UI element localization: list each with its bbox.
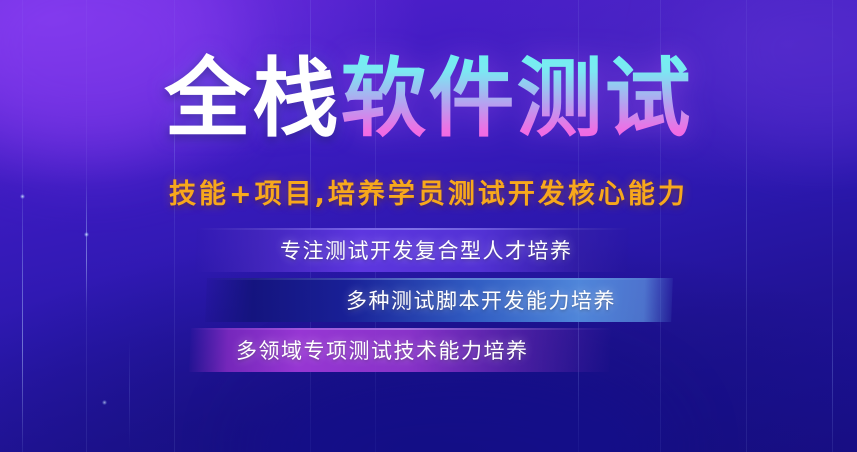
bar-highlight-edge (197, 228, 629, 230)
bar-highlight-edge (191, 328, 611, 330)
title-gradient-part: 软件测试 (341, 49, 693, 149)
bar-highlight-edge (207, 278, 673, 280)
feature-label-2: 多种测试脚本开发能力培养 (346, 285, 616, 315)
feature-label-3: 多领域专项测试技术能力培养 (236, 335, 529, 365)
title-white-part: 全栈 (165, 49, 341, 149)
feature-list: 专注测试开发复合型人才培养 多种测试脚本开发能力培养 多领域专项测试技术能力培养 (0, 228, 857, 388)
feature-bar-1: 专注测试开发复合型人才培养 (195, 228, 629, 272)
feature-label-1: 专注测试开发复合型人才培养 (280, 235, 573, 265)
banner-title: 全栈软件测试 (0, 56, 857, 142)
feature-bar-3: 多领域专项测试技术能力培养 (189, 328, 611, 372)
feature-bar-2: 多种测试脚本开发能力培养 (205, 278, 673, 322)
banner-subtitle: 技能+项目,培养学员测试开发核心能力 (0, 172, 857, 211)
promo-banner: 全栈软件测试 技能+项目,培养学员测试开发核心能力 专注测试开发复合型人才培养 … (0, 0, 857, 452)
banner-content: 全栈软件测试 技能+项目,培养学员测试开发核心能力 专注测试开发复合型人才培养 … (0, 0, 857, 452)
